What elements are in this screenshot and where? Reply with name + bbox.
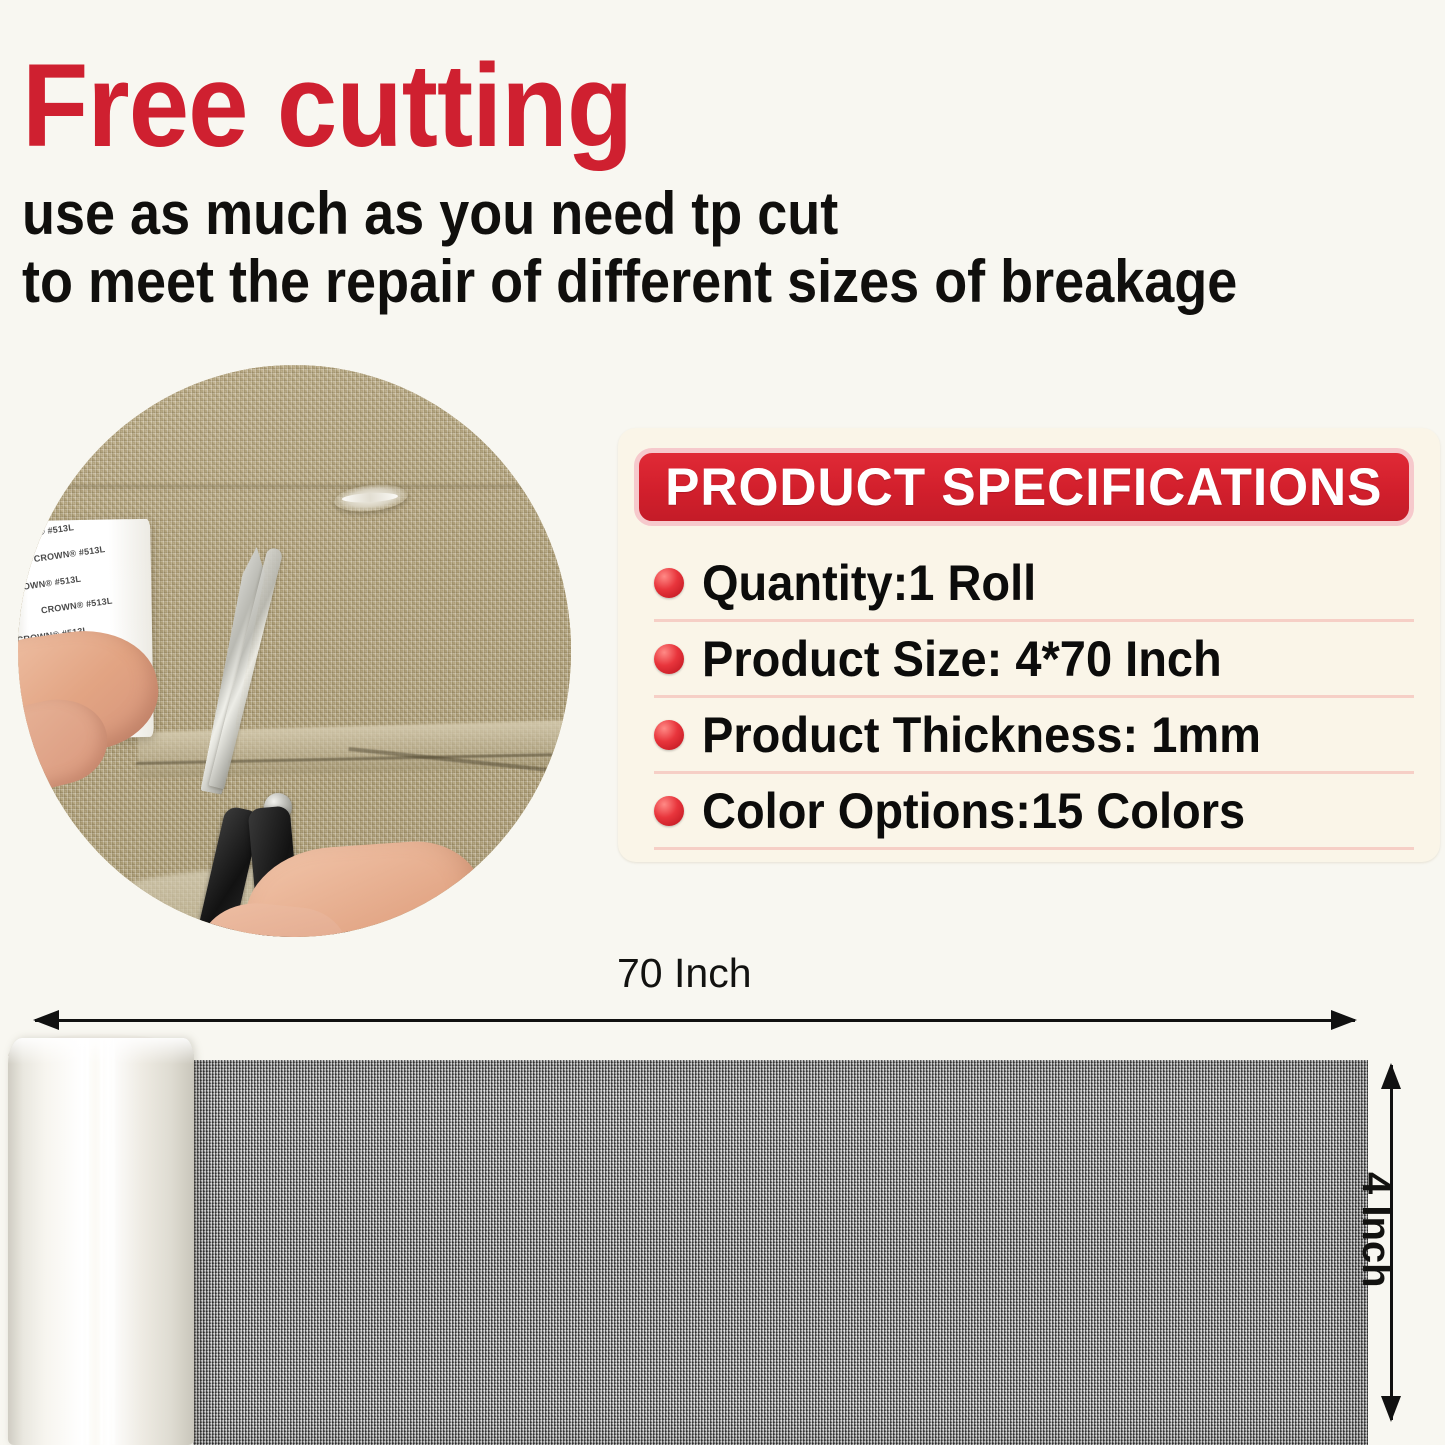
list-item: Product Thickness: 1mm	[654, 698, 1414, 774]
roll-highlight	[86, 1038, 89, 1445]
product-specifications-panel: PRODUCT SPECIFICATIONS Quantity:1 Roll P…	[618, 428, 1440, 862]
bullet-icon	[654, 796, 684, 826]
spec-quantity: Quantity:1 Roll	[702, 554, 1036, 612]
subtitle-line-2: to meet the repair of different sizes of…	[22, 248, 1237, 316]
length-dimension-label: 70 Inch	[617, 950, 752, 997]
spec-color-options: Color Options:15 Colors	[702, 782, 1245, 840]
bullet-icon	[654, 644, 684, 674]
page-subtitle: use as much as you need tp cut to meet t…	[22, 180, 1237, 316]
width-dimension-label: 4 Inch	[1353, 1172, 1398, 1288]
tape-roll	[8, 1038, 194, 1445]
bullet-icon	[654, 720, 684, 750]
bullet-icon	[654, 568, 684, 598]
specifications-header-banner: PRODUCT SPECIFICATIONS	[634, 448, 1414, 526]
specifications-list: Quantity:1 Roll Product Size: 4*70 Inch …	[654, 546, 1414, 850]
list-item: Product Size: 4*70 Inch	[654, 622, 1414, 698]
length-dimension-arrow	[35, 1019, 1355, 1022]
fabric-seam	[18, 485, 571, 487]
list-item: Quantity:1 Roll	[654, 546, 1414, 622]
subtitle-line-1: use as much as you need tp cut	[22, 180, 1237, 248]
specifications-header-text: PRODUCT SPECIFICATIONS	[665, 457, 1382, 518]
gray-linen-strip	[193, 1060, 1368, 1445]
spec-product-thickness: Product Thickness: 1mm	[702, 706, 1261, 764]
list-item: Color Options:15 Colors	[654, 774, 1414, 850]
spec-product-size: Product Size: 4*70 Inch	[702, 630, 1222, 688]
infographic-page: Free cutting use as much as you need tp …	[0, 0, 1445, 1445]
cutting-demo-photo: CROWN® #513L CROWN® #513L CROWN® #513L C…	[18, 365, 571, 937]
page-title: Free cutting	[22, 52, 632, 160]
roll-highlight	[100, 1038, 103, 1445]
roll-highlight	[112, 1038, 115, 1445]
